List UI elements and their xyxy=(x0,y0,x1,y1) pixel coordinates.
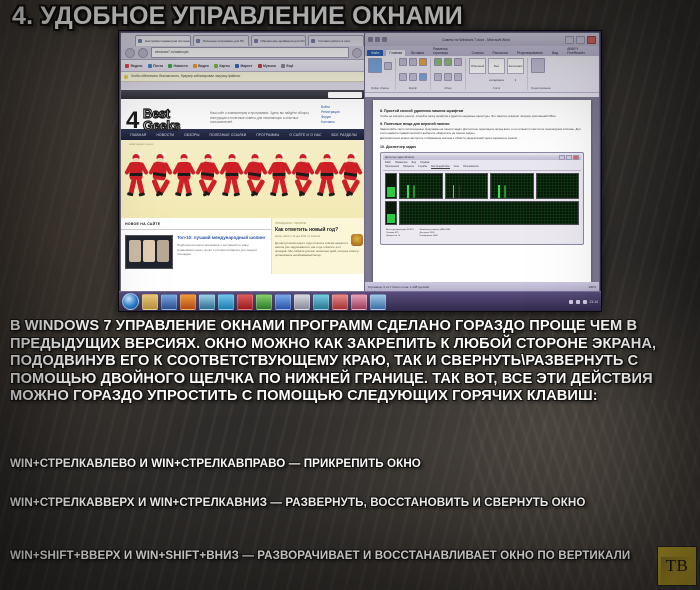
site-header: 4 Best Geeks Наш сайт о компьютерах и пр… xyxy=(121,99,366,129)
nav-item[interactable]: ПРОГРАММЫ xyxy=(256,133,279,137)
stat-value: 74 xyxy=(398,235,400,237)
minimize-icon xyxy=(559,155,565,160)
maximize-icon[interactable] xyxy=(576,36,585,44)
memory-usage-meter xyxy=(385,201,397,225)
site-link[interactable]: Контакты xyxy=(321,120,361,125)
stat-key: Всего дескрипторов xyxy=(386,229,406,231)
forward-icon[interactable] xyxy=(138,48,148,58)
paint-icon[interactable] xyxy=(294,294,310,310)
excel-icon[interactable] xyxy=(256,294,272,310)
redo-icon[interactable] xyxy=(382,37,387,42)
santa-figure xyxy=(292,150,315,208)
site-search-box[interactable] xyxy=(328,92,362,98)
menu-file: Файл xyxy=(385,161,391,164)
bookmark-item[interactable]: Ещё xyxy=(281,64,294,68)
bookmark-item[interactable]: Карты xyxy=(214,64,230,68)
hotkey-line-2: WIN+СТРЕЛКАВВЕРХ И WIN+СТРЕЛКАВНИЗ — РАЗ… xyxy=(10,496,690,510)
volume-icon[interactable] xyxy=(576,300,580,304)
tab-services: Службы xyxy=(418,165,427,169)
photo-viewer-icon[interactable] xyxy=(199,294,215,310)
start-orb-icon[interactable] xyxy=(122,293,139,310)
bookmark-label: Ещё xyxy=(286,64,293,68)
bookmark-label: Карты xyxy=(219,64,230,68)
santa-figure xyxy=(339,150,362,208)
cut-icon[interactable] xyxy=(384,62,392,70)
word-ribbon[interactable]: Буфер обмена Шрифт Абзац Обычный Без инт… xyxy=(365,56,599,93)
site-header-links[interactable]: Войти Регистрация Форум Контакты xyxy=(321,105,361,125)
system-tray[interactable]: 21:14 xyxy=(569,300,599,304)
align-left-icon[interactable] xyxy=(434,73,442,81)
minimize-icon[interactable] xyxy=(565,36,574,44)
doc-paragraph: Чтобы не засорять реестр, откройте папку… xyxy=(380,115,584,119)
santa-figure xyxy=(315,150,338,208)
banner-caption: новогодние пляски xyxy=(129,142,153,146)
bookmark-label: Маркет xyxy=(240,64,252,68)
bookmarks-bar[interactable]: Яндекс Почта Новости Видео Карты Маркет … xyxy=(121,60,366,72)
cpu-history-graph xyxy=(399,173,443,199)
word-status-bar[interactable]: Страница: 3 из 7 Число слов: 1 248 русск… xyxy=(365,282,599,291)
browser-tab-strip[interactable]: Настройки параметров системы Полезные пр… xyxy=(121,33,366,46)
site-intro-text: Наш сайт о компьютерах и программах. Зде… xyxy=(210,105,315,125)
bookmark-item[interactable]: Музыка xyxy=(258,64,276,68)
article-title[interactable]: Топ-10: лучший международный шопинг xyxy=(177,235,267,240)
tab-file[interactable]: Файл xyxy=(367,50,383,56)
stat-value: 4094 xyxy=(445,229,450,231)
browser-tab[interactable]: Обновление драйверов для Windows xyxy=(251,35,307,46)
find-icon[interactable] xyxy=(531,58,545,73)
santa-figure xyxy=(125,150,148,208)
task-manager-screenshot: Диспетчер задач Windows Файл Параметры В… xyxy=(380,152,584,245)
word-title-bar[interactable]: Советы по Windows 7.docx - Microsoft Wor… xyxy=(365,33,599,46)
tab-applications: Приложения xyxy=(385,165,399,169)
browser-chrome: Настройки параметров системы Полезные пр… xyxy=(121,33,366,60)
tab-performance: Быстродействие xyxy=(431,165,449,169)
font-size-box[interactable] xyxy=(409,58,417,66)
cpu-history-graph xyxy=(536,173,580,199)
style-normal[interactable]: Обычный xyxy=(469,58,486,74)
tab-mailings[interactable]: Рассылка xyxy=(490,50,511,56)
browser-tab[interactable]: Условия работы в сети xyxy=(308,35,364,46)
site-sidebar: ПРАЗДНИКИ / ОБЗОРЫ Как отметить новый го… xyxy=(272,218,366,274)
underline-icon[interactable] xyxy=(409,73,417,81)
nav-item[interactable]: ПОЛЕЗНЫЕ ССЫЛКИ xyxy=(210,133,247,137)
italic-icon[interactable] xyxy=(399,73,407,81)
bookmark-label: Видео xyxy=(198,64,209,68)
ribbon-group-font[interactable]: Шрифт xyxy=(399,58,431,90)
ribbon-group-editing[interactable]: Редактирование xyxy=(531,58,554,90)
stat-key: Кэшировано xyxy=(420,235,433,237)
tab-page-layout[interactable]: Разметка страницы xyxy=(430,46,466,56)
browser-window[interactable]: Настройки параметров системы Полезные пр… xyxy=(120,32,367,292)
word-page[interactable]: 8. Простой способ удаления лишних шрифто… xyxy=(373,100,591,282)
action-center-icon[interactable] xyxy=(583,300,587,304)
sidebar-kicker: ПРАЗДНИКИ / ОБЗОРЫ xyxy=(275,221,363,225)
back-icon[interactable] xyxy=(125,48,135,58)
article-thumbnail xyxy=(125,235,173,269)
word-zoom-level[interactable]: 100% xyxy=(588,285,596,289)
doc-heading: 8. Простой способ удаления лишних шрифто… xyxy=(380,109,584,113)
group-label: Редактирование xyxy=(531,87,551,90)
reload-icon[interactable] xyxy=(352,48,362,58)
word-status-left: Страница: 3 из 7 Число слов: 1 248 русск… xyxy=(368,285,429,289)
watermark-text: ТВ xyxy=(666,556,689,576)
task-manager-title: Диспетчер задач Windows xyxy=(385,156,414,159)
stat-row: Кэшировано 1480 xyxy=(420,235,451,238)
firefox-icon[interactable] xyxy=(180,294,196,310)
group-label: Буфер обмена xyxy=(368,87,392,90)
tab-references[interactable]: Ссылки xyxy=(469,50,487,56)
cpu-graph-row xyxy=(385,173,579,199)
santa-figure xyxy=(173,150,196,208)
network-icon[interactable] xyxy=(569,300,573,304)
page-title: 4. УДОБНОЕ УПРАВЛЕНИЕ ОКНАМИ xyxy=(12,2,463,31)
screenshot-image: Настройки параметров системы Полезные пр… xyxy=(118,30,602,312)
sidebar-article-text: До наступления нового года осталось совс… xyxy=(275,241,363,257)
tab-insert[interactable]: Вставка xyxy=(408,50,427,56)
save-icon[interactable] xyxy=(368,37,373,42)
ribbon-group-styles[interactable]: Обычный Без интервала Заголовок 1 Стили xyxy=(469,58,528,90)
doc-heading: 9. Полезные вещи для верхней панели xyxy=(380,122,584,126)
nav-item[interactable]: О САЙТЕ И О НАС xyxy=(289,133,321,137)
browser-notification-bar[interactable]: Чтобы обеспечить безопасность, браузер з… xyxy=(121,72,366,82)
memory-history-graph xyxy=(399,201,579,225)
explorer-icon[interactable] xyxy=(142,294,158,310)
stat-key: Физическая память (МБ) xyxy=(420,229,445,231)
stat-key: Доступно xyxy=(420,232,430,234)
skype-icon[interactable] xyxy=(218,294,234,310)
opera-icon[interactable] xyxy=(237,294,253,310)
doc-paragraph: Дополнительно можно настроить отображени… xyxy=(380,137,584,141)
doc-heading: 10. Диспетчер задач xyxy=(380,145,584,149)
style-heading-1[interactable]: Заголовок 1 xyxy=(507,58,524,74)
window-controls xyxy=(559,155,579,160)
site-logo[interactable]: 4 Best Geeks xyxy=(126,105,204,125)
tab-home[interactable]: Главная xyxy=(386,50,405,56)
cpu-history-graph xyxy=(490,173,534,199)
numbering-icon[interactable] xyxy=(444,58,452,66)
word-ribbon-tabs[interactable]: Файл Главная Вставка Разметка страницы С… xyxy=(365,46,599,56)
new-on-site-heading: НОВОЕ НА САЙТЕ xyxy=(121,218,271,230)
cpu-usage-meter xyxy=(385,173,397,199)
memory-graph-row xyxy=(385,201,579,225)
browser-tab[interactable]: Настройки параметров системы xyxy=(135,35,191,46)
stat-value: 912 xyxy=(395,232,399,234)
clock[interactable]: 21:14 xyxy=(590,300,599,304)
quick-access-toolbar[interactable] xyxy=(368,37,387,42)
bookmark-item[interactable]: Почта xyxy=(148,64,163,68)
task-manager-body: Всего дескрипторов 28 415 Потоков 912 Пр… xyxy=(383,171,581,242)
web-page: 4 Best Geeks Наш сайт о компьютерах и пр… xyxy=(121,90,366,291)
ribbon-group-paragraph[interactable]: Абзац xyxy=(434,58,466,90)
maximize-icon xyxy=(566,155,572,160)
font-name-box[interactable] xyxy=(399,58,407,66)
bookmark-label: Новости xyxy=(174,64,188,68)
menu-options: Параметры xyxy=(395,161,408,164)
group-label: Стили xyxy=(469,87,524,90)
stat-value: 2316 xyxy=(430,232,435,234)
group-label: Абзац xyxy=(434,87,462,90)
gallery-icon[interactable] xyxy=(351,294,367,310)
logo-digit: 4 xyxy=(126,111,139,131)
tab-abbyy[interactable]: ABBYY FineReader xyxy=(564,46,599,56)
cpu-history-graph xyxy=(445,173,489,199)
hotkey-line-1: WIN+СТРЕЛКАВЛЕВО И WIN+СТРЕЛКАВПРАВО — П… xyxy=(10,457,690,471)
tab-view[interactable]: Вид xyxy=(549,50,561,56)
logo-word-geeks: Geeks xyxy=(143,119,180,132)
undo-icon[interactable] xyxy=(375,37,380,42)
tab-review[interactable]: Рецензирование xyxy=(514,50,546,56)
media-player-icon[interactable] xyxy=(161,294,177,310)
nav-item[interactable]: ОБЗОРЫ xyxy=(184,133,200,137)
stat-value: 1480 xyxy=(433,235,438,237)
bookmark-item[interactable]: Видео xyxy=(193,64,209,68)
messenger-icon[interactable] xyxy=(313,294,329,310)
bookmark-label: Музыка xyxy=(263,64,276,68)
santa-figure xyxy=(196,150,219,208)
browser-address-bar[interactable]: windows7.ru/nastroyki xyxy=(121,46,366,58)
article-excerpt: Подборка интернет-магазинов с доставкой … xyxy=(177,243,267,256)
word-icon[interactable] xyxy=(275,294,291,310)
bookmark-item[interactable]: Маркет xyxy=(235,64,253,68)
santa-row xyxy=(125,150,362,208)
style-no-spacing[interactable]: Без интервала xyxy=(488,58,505,74)
stat-value: 28 415 xyxy=(407,229,414,231)
tab-users: Пользователи xyxy=(463,165,479,169)
site-main-column: НОВОЕ НА САЙТЕ Топ-10: лучший международ… xyxy=(121,218,272,274)
bullets-icon[interactable] xyxy=(434,58,442,66)
close-icon[interactable] xyxy=(587,36,596,44)
santa-figure xyxy=(268,150,291,208)
doc-paragraph: Закрепляйте часто используемые программы… xyxy=(380,128,584,136)
word-page-area[interactable]: 8. Простой способ удаления лишних шрифто… xyxy=(365,97,599,282)
article-card[interactable]: Топ-10: лучший международный шопинг Подб… xyxy=(121,230,271,274)
menu-help: Справка xyxy=(420,161,429,164)
stat-key: Потоков xyxy=(386,232,394,234)
santa-figure xyxy=(220,150,243,208)
window-controls[interactable] xyxy=(565,36,596,44)
paste-icon[interactable] xyxy=(368,58,382,73)
santa-banner: новогодние пляски xyxy=(121,140,366,218)
ribbon-group-clipboard[interactable]: Буфер обмена xyxy=(368,58,396,90)
windows-taskbar[interactable]: 21:14 xyxy=(119,291,601,311)
url-input[interactable]: windows7.ru/nastroyki xyxy=(151,47,349,58)
text-color-icon[interactable] xyxy=(419,73,427,81)
santa-figure xyxy=(244,150,267,208)
word-window[interactable]: Советы по Windows 7.docx - Microsoft Wor… xyxy=(364,32,600,292)
stat-key: Процессов xyxy=(386,235,397,237)
group-label: Шрифт xyxy=(399,87,427,90)
bookmark-item[interactable]: Новости xyxy=(168,64,188,68)
nav-item[interactable]: НОВОСТИ xyxy=(156,133,174,137)
intro-paragraph: В WINDOWS 7 УПРАВЛЕНИЕ ОКНАМИ ПРОГРАММ С… xyxy=(10,318,690,406)
task-manager-stats: Всего дескрипторов 28 415 Потоков 912 Пр… xyxy=(385,227,579,240)
site-content: НОВОЕ НА САЙТЕ Топ-10: лучший международ… xyxy=(121,218,366,274)
body-copy: В WINDOWS 7 УПРАВЛЕНИЕ ОКНАМИ ПРОГРАММ С… xyxy=(10,318,690,406)
nav-item[interactable]: ВСЕ РАЗДЕЛЫ xyxy=(332,133,357,137)
word-document-title: Советы по Windows 7.docx - Microsoft Wor… xyxy=(442,38,510,42)
tab-networking: Сеть xyxy=(454,165,459,169)
indent-icon[interactable] xyxy=(454,58,462,66)
align-center-icon[interactable] xyxy=(444,73,452,81)
bookmark-item[interactable]: Яндекс xyxy=(125,64,143,68)
sidebar-article-title[interactable]: Как отметить новый год? xyxy=(275,227,363,233)
close-icon xyxy=(573,155,579,160)
sidebar-article-meta: автор: admin | 12 дек 2011 | 5 ответов xyxy=(275,235,363,238)
tab-processes: Процессы xyxy=(403,165,414,169)
bookmark-label: Почта xyxy=(153,64,163,68)
game-icon[interactable] xyxy=(332,294,348,310)
bookmark-label: Яндекс xyxy=(131,64,143,68)
watermark: ТВ xyxy=(658,547,696,585)
site-topbar xyxy=(121,90,366,99)
new-year-icon xyxy=(351,234,363,246)
menu-view: Вид xyxy=(412,161,416,164)
hotkey-line-3: WIN+SHIFT+ВВЕРХ И WIN+SHIFT+ВНИЗ — РАЗВО… xyxy=(10,549,690,563)
bold-icon[interactable] xyxy=(419,58,427,66)
line-spacing-icon[interactable] xyxy=(454,73,462,81)
santa-figure xyxy=(149,150,172,208)
folder-icon[interactable] xyxy=(370,294,386,310)
browser-tab[interactable]: Полезные программы для ПК xyxy=(193,35,249,46)
stat-row: Процессов 74 xyxy=(386,235,414,238)
